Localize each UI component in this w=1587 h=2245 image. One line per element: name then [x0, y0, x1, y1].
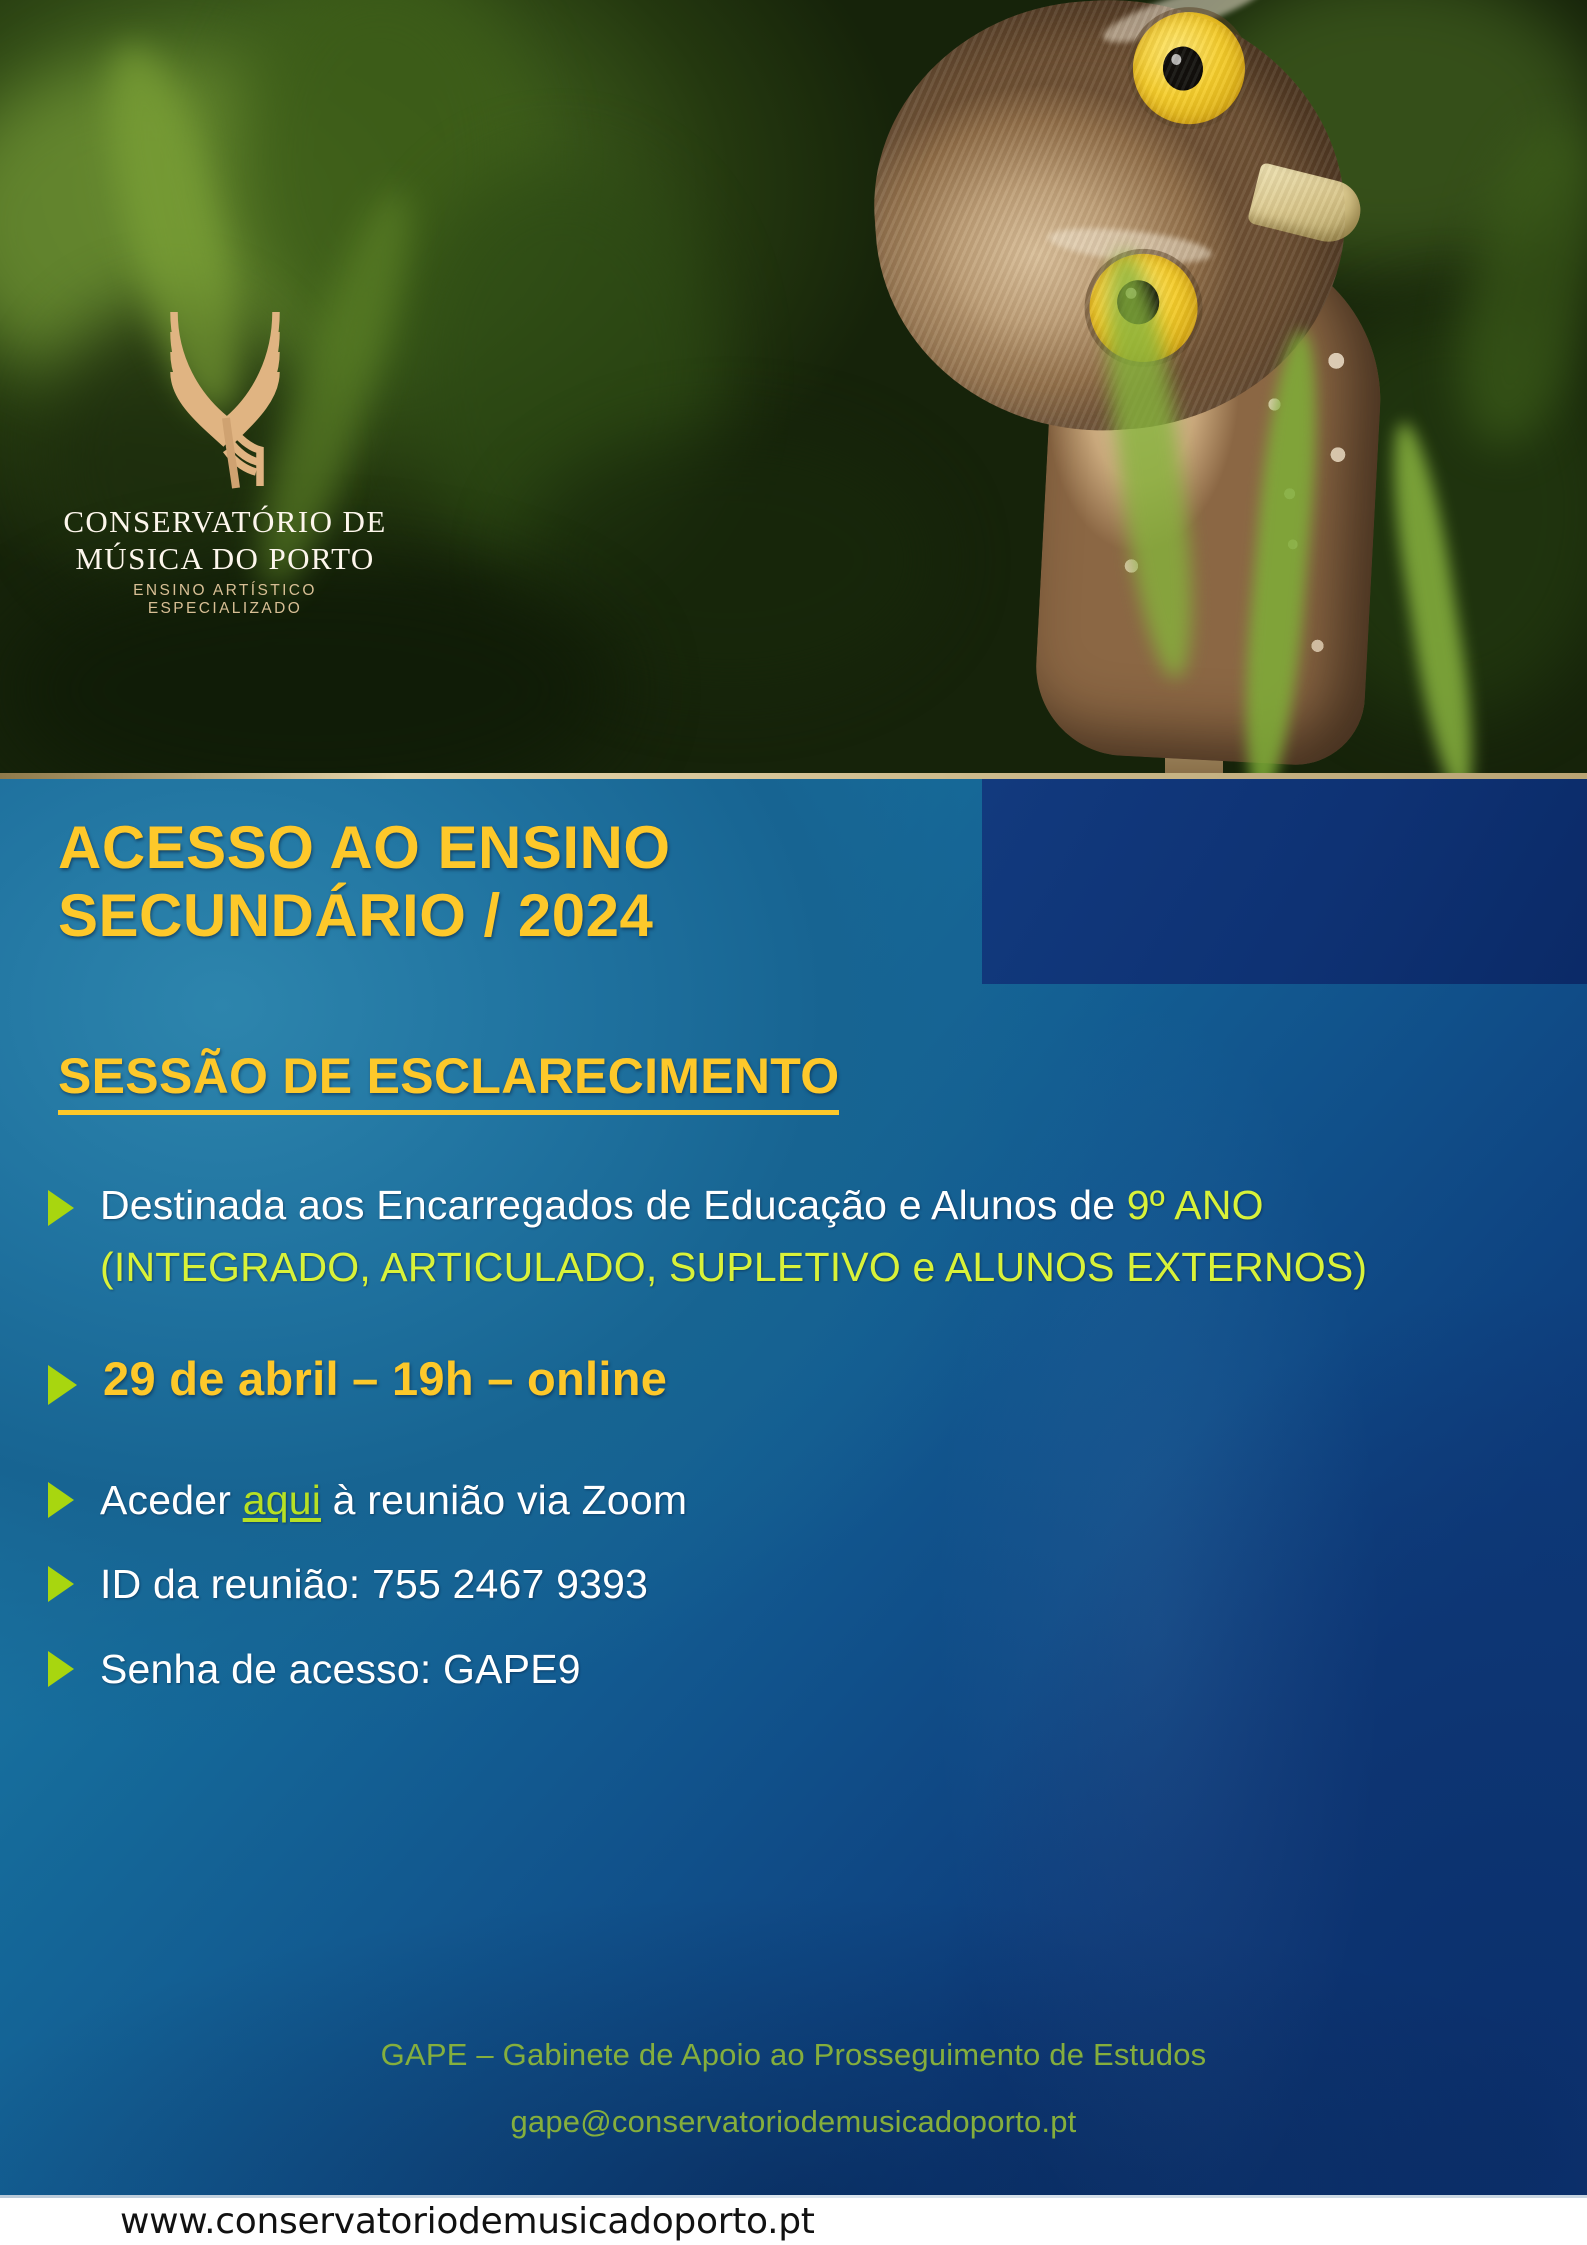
page-title-line-1: ACESSO AO ENSINO: [58, 814, 958, 882]
bullet-list-access: Aceder aqui à reunião via Zoom ID da reu…: [48, 1469, 1348, 1722]
triangle-bullet-icon: [48, 1365, 77, 1405]
zoom-meeting-link[interactable]: aqui: [243, 1477, 321, 1523]
meeting-id-text: ID da reunião: 755 2467 9393: [100, 1553, 648, 1615]
blue-content-panel: ACESSO AO ENSINO SECUNDÁRIO / 2024 SESSÃ…: [0, 779, 1587, 2195]
logo-line-2: MÚSICA DO PORTO: [55, 541, 395, 578]
poster: CONSERVATÓRIO DE MÚSICA DO PORTO ENSINO …: [0, 0, 1587, 2245]
owl-brow: [1098, 0, 1270, 54]
list-item-zoom-link: Aceder aqui à reunião via Zoom: [48, 1469, 1348, 1531]
conservatory-logo: CONSERVATÓRIO DE MÚSICA DO PORTO ENSINO …: [55, 300, 395, 618]
logo-mark-icon: [160, 300, 290, 490]
website-url[interactable]: www.conservatoriodemusicadoporto.pt: [120, 2201, 815, 2242]
page-title-line-2: SECUNDÁRIO / 2024: [58, 882, 958, 950]
bullet-list-audience: Destinada aos Encarregados de Educação e…: [48, 1174, 1478, 1406]
list-item-meeting-id: ID da reunião: 755 2467 9393: [48, 1553, 1348, 1615]
zoom-access-text: Aceder aqui à reunião via Zoom: [100, 1469, 687, 1531]
logo-tagline: ENSINO ARTÍSTICO ESPECIALIZADO: [55, 582, 395, 618]
url-bar-top-hairline: [0, 2195, 1587, 2198]
list-item-passcode: Senha de acesso: GAPE9: [48, 1638, 1348, 1700]
triangle-bullet-icon: [48, 1651, 74, 1687]
footer-contact-block: GAPE – Gabinete de Apoio ao Prosseguimen…: [0, 2039, 1587, 2172]
zoom-access-pre: Aceder: [100, 1477, 243, 1523]
website-url-bar: www.conservatoriodemusicadoporto.pt: [0, 2195, 1587, 2245]
page-title: ACESSO AO ENSINO SECUNDÁRIO / 2024: [58, 814, 958, 951]
triangle-bullet-icon: [48, 1482, 74, 1518]
owl-eye-upper: [1129, 8, 1249, 128]
zoom-access-post: à reunião via Zoom: [321, 1477, 687, 1523]
page-subtitle: SESSÃO DE ESCLARECIMENTO: [58, 1047, 839, 1115]
owl-header-photo: CONSERVATÓRIO DE MÚSICA DO PORTO ENSINO …: [0, 0, 1587, 775]
poster-content: ACESSO AO ENSINO SECUNDÁRIO / 2024 SESSÃ…: [0, 779, 1587, 2195]
logo-line-1: CONSERVATÓRIO DE: [55, 504, 395, 541]
passcode-text: Senha de acesso: GAPE9: [100, 1638, 581, 1700]
audience-lead: Destinada aos Encarregados de Educação e…: [100, 1182, 1127, 1228]
list-item-date: 29 de abril – 19h – online: [48, 1351, 1478, 1406]
gape-description: GAPE – Gabinete de Apoio ao Prosseguimen…: [0, 2039, 1587, 2072]
triangle-bullet-icon: [48, 1190, 74, 1226]
owl-beak: [1247, 162, 1367, 248]
event-date-time: 29 de abril – 19h – online: [103, 1351, 667, 1406]
gold-divider-rule: [0, 773, 1587, 779]
list-item: Destinada aos Encarregados de Educação e…: [48, 1174, 1478, 1299]
audience-text: Destinada aos Encarregados de Educação e…: [100, 1174, 1478, 1299]
owl-pupil: [1161, 45, 1204, 92]
triangle-bullet-icon: [48, 1566, 74, 1602]
gape-email[interactable]: gape@conservatoriodemusicadoporto.pt: [0, 2106, 1587, 2139]
